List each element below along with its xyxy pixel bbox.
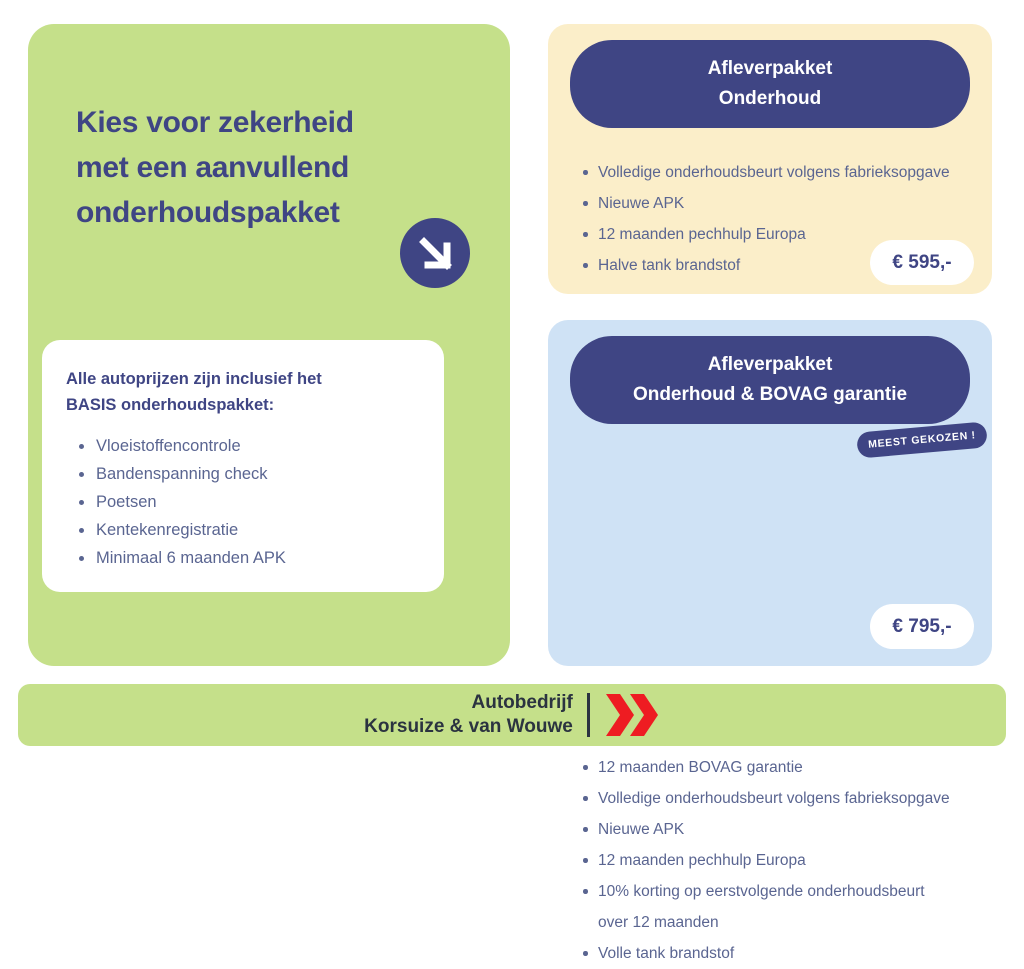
package-header-line-2: Onderhoud & BOVAG garantie bbox=[580, 380, 960, 410]
logo-divider bbox=[587, 693, 590, 737]
basis-feature-list: Vloeistoffencontrole Bandenspanning chec… bbox=[66, 432, 420, 572]
package-header-line-1: Afleverpakket bbox=[580, 54, 960, 84]
list-item: Poetsen bbox=[96, 488, 420, 516]
double-chevron-right-icon bbox=[604, 692, 660, 738]
logo-line-1: Autobedrijf bbox=[364, 691, 573, 715]
package-header-line-1: Afleverpakket bbox=[580, 350, 960, 380]
list-item-continuation: over 12 maanden bbox=[598, 907, 990, 938]
basis-card-title-line-2: BASIS onderhoudspakket: bbox=[66, 392, 420, 418]
headline-line-3: onderhoudspakket bbox=[76, 190, 456, 235]
list-item: Vloeistoffencontrole bbox=[96, 432, 420, 460]
basis-card-title: Alle autoprijzen zijn inclusief het BASI… bbox=[66, 366, 420, 418]
logo-text: Autobedrijf Korsuize & van Wouwe bbox=[364, 691, 573, 739]
basis-package-card: Alle autoprijzen zijn inclusief het BASI… bbox=[42, 340, 444, 592]
package-header-onderhoud: Afleverpakket Onderhoud bbox=[570, 40, 970, 128]
list-item: Volle tank brandstof bbox=[598, 938, 990, 969]
price-badge-onderhoud: € 595,- bbox=[870, 240, 974, 285]
list-item: Kentekenregistratie bbox=[96, 516, 420, 544]
list-item: Nieuwe APK bbox=[598, 188, 990, 219]
price-badge-onderhoud-bovag: € 795,- bbox=[870, 604, 974, 649]
package-header-onderhoud-bovag: Afleverpakket Onderhoud & BOVAG garantie bbox=[570, 336, 970, 424]
headline-line-2: met een aanvullend bbox=[76, 145, 456, 190]
package-header-line-2: Onderhoud bbox=[580, 84, 960, 114]
list-item: 10% korting op eerstvolgende onderhoudsb… bbox=[598, 876, 990, 907]
list-item: Volledige onderhoudsbeurt volgens fabrie… bbox=[598, 783, 990, 814]
list-item: Volledige onderhoudsbeurt volgens fabrie… bbox=[598, 157, 990, 188]
arrow-down-right-icon bbox=[400, 218, 470, 288]
list-item: Minimaal 6 maanden APK bbox=[96, 544, 420, 572]
basis-card-title-line-1: Alle autoprijzen zijn inclusief het bbox=[66, 366, 420, 392]
list-item: Bandenspanning check bbox=[96, 460, 420, 488]
footer-bar: Autobedrijf Korsuize & van Wouwe bbox=[18, 684, 1006, 746]
logo-line-2: Korsuize & van Wouwe bbox=[364, 715, 573, 739]
page-title: Kies voor zekerheid met een aanvullend o… bbox=[76, 100, 456, 235]
company-logo: Autobedrijf Korsuize & van Wouwe bbox=[364, 691, 660, 739]
promo-flyer: Kies voor zekerheid met een aanvullend o… bbox=[0, 0, 1024, 768]
list-item: 12 maanden pechhulp Europa bbox=[598, 845, 990, 876]
headline-line-1: Kies voor zekerheid bbox=[76, 100, 456, 145]
list-item: Nieuwe APK bbox=[598, 814, 990, 845]
package-feature-list-onderhoud-bovag: 12 maanden BOVAG garantie Volledige onde… bbox=[576, 752, 990, 969]
